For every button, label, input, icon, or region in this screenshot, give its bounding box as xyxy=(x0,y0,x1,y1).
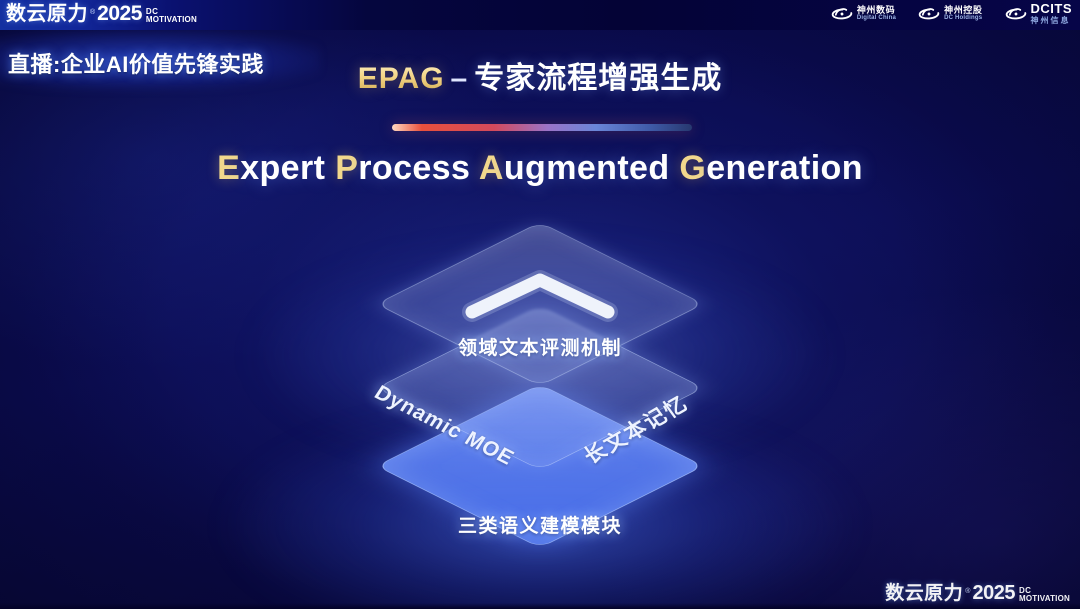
partner-text: DCITS 神州信息 xyxy=(1031,2,1073,26)
brand-name-cn: 数云原力 xyxy=(6,4,88,24)
partner-name-en: 神州信息 xyxy=(1031,17,1073,26)
cap-letter-a: A xyxy=(479,149,504,187)
title-subtitle-cn: 专家流程增强生成 xyxy=(474,62,722,95)
brand-motivation-label: MOTIVATION xyxy=(146,16,197,24)
english-word-generation: Generation xyxy=(679,149,863,187)
english-word-process: Process xyxy=(335,149,470,187)
brand-dc-motivation: DC MOTIVATION xyxy=(146,8,197,24)
slide-stage: 数云原力 ® 2025 DC MOTIVATION 神州数码 Digital C… xyxy=(0,0,1080,609)
watermark-name-cn: 数云原力 xyxy=(885,584,963,603)
partner-name-en: Digital China xyxy=(857,15,896,22)
chevron-up-icon xyxy=(460,268,620,327)
word-rest-augmented: ugmented xyxy=(504,149,670,187)
word-rest-generation: eneration xyxy=(706,149,863,187)
title-dash: – xyxy=(451,62,469,95)
partner-name-cn: 神州控股 xyxy=(944,5,982,15)
word-rest-process: rocess xyxy=(358,149,470,187)
cap-letter-e: E xyxy=(217,149,240,187)
word-rest-expert: xpert xyxy=(240,149,325,187)
bottom-edge-fade xyxy=(0,603,1080,609)
watermark-year: 2025 xyxy=(972,583,1015,603)
title-acronym: EPAG xyxy=(358,62,445,95)
swirl-icon xyxy=(831,3,853,25)
partner-logo-digital-china: 神州数码 Digital China xyxy=(831,3,896,25)
layer-label-bottom: 三类语义建模模块 xyxy=(0,511,1080,538)
partner-logo-group: 神州数码 Digital China 神州控股 DC Holdings xyxy=(831,2,1072,26)
cap-letter-g: G xyxy=(679,149,706,187)
footer-watermark-logo: 数云原力 ® 2025 DC MOTIVATION xyxy=(885,583,1070,603)
partner-logo-dcits: DCITS 神州信息 xyxy=(1005,2,1073,26)
swirl-icon xyxy=(1005,3,1027,25)
english-word-augmented: Augmented xyxy=(479,149,670,187)
cap-letter-p: P xyxy=(335,149,358,187)
partner-text: 神州数码 Digital China xyxy=(857,5,896,22)
watermark-dc-motivation: DC MOTIVATION xyxy=(1019,587,1070,603)
partner-name-cn: 神州数码 xyxy=(857,5,896,15)
brand-year: 2025 xyxy=(97,3,142,24)
partner-logo-dc-holdings: 神州控股 DC Holdings xyxy=(918,3,982,25)
partner-name-cn: DCITS xyxy=(1031,2,1073,17)
title-divider xyxy=(392,124,692,131)
title-english-expansion: Expert Process Augmented Generation xyxy=(0,149,1080,188)
watermark-registered-mark: ® xyxy=(965,588,970,595)
partner-text: 神州控股 DC Holdings xyxy=(944,5,982,22)
english-word-expert: Expert xyxy=(217,149,325,187)
layer-label-top: 领域文本评测机制 xyxy=(0,333,1080,360)
brand-registered-mark: ® xyxy=(90,9,95,16)
header-brand-logo: 数云原力 ® 2025 DC MOTIVATION xyxy=(6,3,197,24)
partner-name-en: DC Holdings xyxy=(944,15,982,22)
swirl-icon xyxy=(918,3,940,25)
watermark-motivation-label: MOTIVATION xyxy=(1019,595,1070,603)
live-stream-title: 直播:企业AI价值先锋实践 xyxy=(8,47,264,79)
